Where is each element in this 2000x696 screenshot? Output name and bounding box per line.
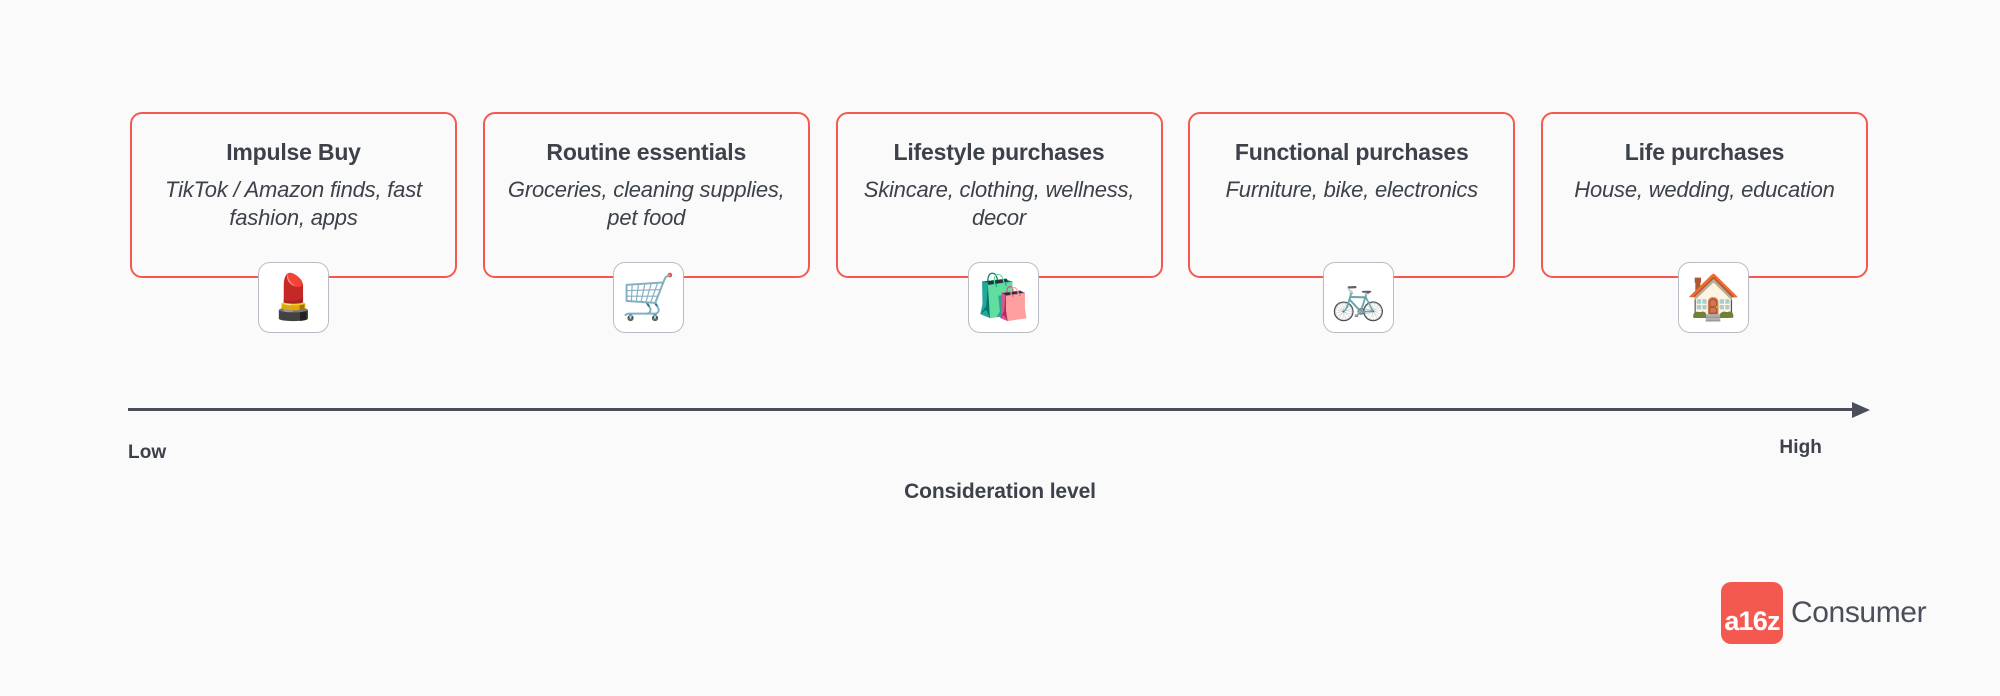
- a16z-logo-wordmark: Consumer: [1791, 598, 1926, 628]
- house-icon: 🏠: [1678, 262, 1749, 333]
- lipstick-icon: 💄: [258, 262, 329, 333]
- card-title: Functional purchases: [1235, 140, 1469, 165]
- purchase-category-card-functional-purchases: Functional purchases Furniture, bike, el…: [1188, 112, 1515, 278]
- card-title: Impulse Buy: [226, 140, 361, 165]
- purchase-category-card-impulse-buy: Impulse Buy TikTok / Amazon finds, fast …: [130, 112, 457, 278]
- card-description: Furniture, bike, electronics: [1226, 176, 1478, 204]
- purchase-category-card-row: Impulse Buy TikTok / Amazon finds, fast …: [130, 112, 1868, 278]
- card-title: Lifestyle purchases: [894, 140, 1105, 165]
- card-description: House, wedding, education: [1574, 176, 1834, 204]
- consideration-axis: [128, 402, 1870, 418]
- card-title: Routine essentials: [546, 140, 746, 165]
- axis-label-high: High: [1779, 437, 1822, 459]
- infographic-canvas: Impulse Buy TikTok / Amazon finds, fast …: [0, 0, 2000, 696]
- a16z-logo-mark-text: a16z: [1724, 608, 1779, 635]
- bicycle-icon: 🚲: [1323, 262, 1394, 333]
- shopping-cart-icon: 🛒: [613, 262, 684, 333]
- axis-arrow-head-icon: [1852, 402, 1870, 418]
- a16z-consumer-logo: a16z Consumer: [1721, 582, 1926, 644]
- card-description: TikTok / Amazon finds, fast fashion, app…: [149, 176, 439, 232]
- axis-line: [128, 408, 1858, 411]
- a16z-logo-mark: a16z: [1721, 582, 1783, 644]
- axis-caption: Consideration level: [904, 480, 1096, 504]
- card-title: Life purchases: [1625, 140, 1785, 165]
- shopping-bags-icon: 🛍️: [968, 262, 1039, 333]
- card-description: Groceries, cleaning supplies, pet food: [501, 176, 791, 232]
- purchase-category-card-lifestyle-purchases: Lifestyle purchases Skincare, clothing, …: [836, 112, 1163, 278]
- purchase-category-card-routine-essentials: Routine essentials Groceries, cleaning s…: [483, 112, 810, 278]
- card-description: Skincare, clothing, wellness, decor: [854, 176, 1144, 232]
- axis-label-low: Low: [128, 442, 166, 464]
- purchase-category-card-life-purchases: Life purchases House, wedding, education: [1541, 112, 1868, 278]
